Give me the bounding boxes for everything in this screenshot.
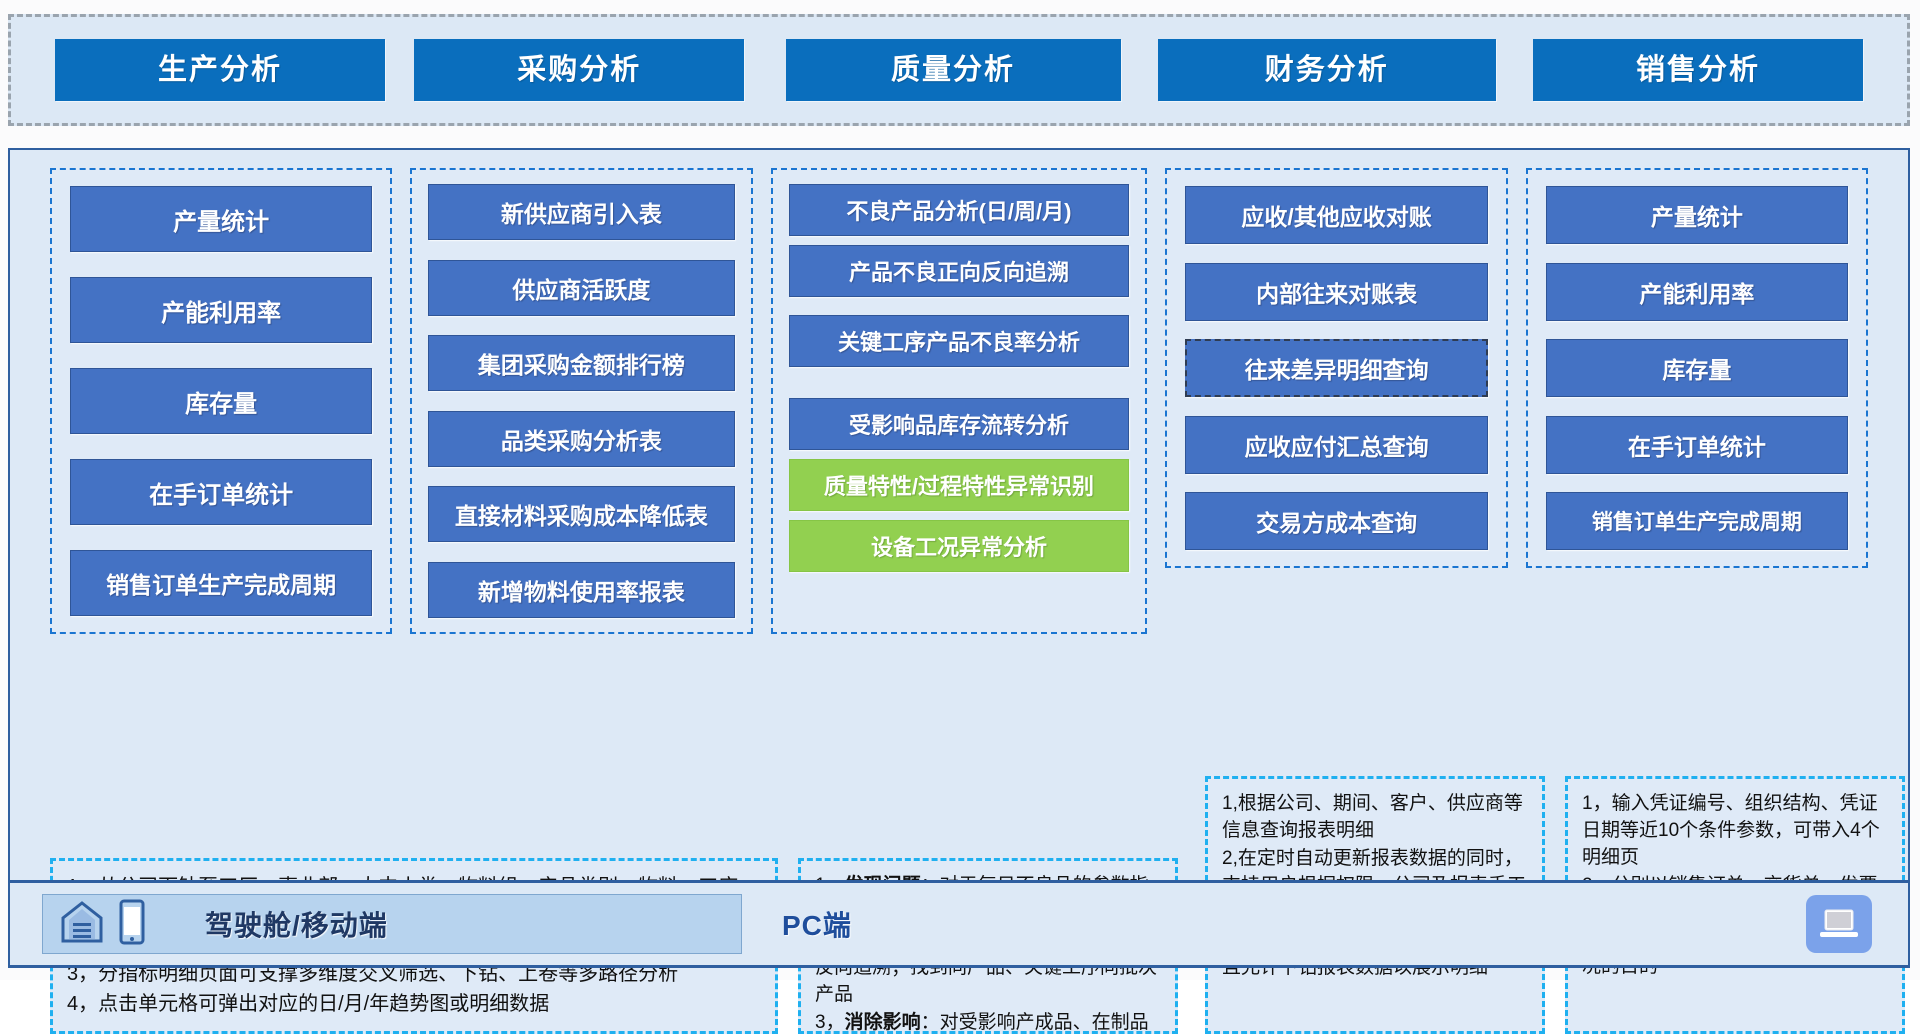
tab-production[interactable]: 生产分析 bbox=[55, 39, 385, 101]
description-line: 3，消除影响：对受影响产成品、在制品的流转库存进行排查 bbox=[815, 1010, 1161, 1034]
platform-bottom-bar: 驾驶舱/移动端 PC端 bbox=[8, 880, 1910, 968]
tab-finance[interactable]: 财务分析 bbox=[1158, 39, 1496, 101]
mobile-phone-icon bbox=[119, 899, 145, 950]
item-quality-key-process-defect-rate[interactable]: 关键工序产品不良率分析 bbox=[789, 315, 1130, 367]
description-line: 1,根据公司、期间、客户、供应商等信息查询报表明细 bbox=[1222, 791, 1528, 845]
item-procurement-category-analysis[interactable]: 品类采购分析表 bbox=[428, 411, 734, 467]
item-quality-affected-inventory-flow[interactable]: 受影响品库存流转分析 bbox=[789, 398, 1130, 450]
item-procurement-supplier-activity[interactable]: 供应商活跃度 bbox=[428, 260, 734, 316]
procurement-item-group: 新供应商引入表 供应商活跃度 集团采购金额排行榜 品类采购分析表 直接材料采购成… bbox=[410, 168, 752, 634]
item-procurement-new-supplier[interactable]: 新供应商引入表 bbox=[428, 184, 734, 240]
item-sales-inventory[interactable]: 库存量 bbox=[1546, 339, 1848, 397]
item-procurement-direct-material-cost[interactable]: 直接材料采购成本降低表 bbox=[428, 486, 734, 542]
tab-sales[interactable]: 销售分析 bbox=[1533, 39, 1863, 101]
quality-item-group: 不良产品分析(日/周/月) 产品不良正向反向追溯 关键工序产品不良率分析 受影响… bbox=[771, 168, 1148, 634]
laptop-icon bbox=[1806, 895, 1872, 953]
cockpit-mobile-label: 驾驶舱/移动端 bbox=[205, 904, 388, 944]
item-sales-open-orders[interactable]: 在手订单统计 bbox=[1546, 416, 1848, 474]
item-finance-internal-reconciliation[interactable]: 内部往来对账表 bbox=[1185, 263, 1487, 321]
item-sales-output-stats[interactable]: 产量统计 bbox=[1546, 186, 1848, 244]
item-production-open-orders[interactable]: 在手订单统计 bbox=[70, 459, 372, 525]
description-line-emphasis: 消除影响 bbox=[845, 1012, 921, 1033]
item-sales-capacity-utilization[interactable]: 产能利用率 bbox=[1546, 263, 1848, 321]
description-line-number: 3， bbox=[815, 1012, 845, 1033]
finance-item-group: 应收/其他应收对账 内部往来对账表 往来差异明细查询 应收应付汇总查询 交易方成… bbox=[1165, 168, 1507, 568]
main-content-panel: 产量统计 产能利用率 库存量 在手订单统计 销售订单生产完成周期 新供应商引入表… bbox=[8, 148, 1910, 968]
item-finance-receivable-reconciliation[interactable]: 应收/其他应收对账 bbox=[1185, 186, 1487, 244]
item-quality-defect-traceability[interactable]: 产品不良正向反向追溯 bbox=[789, 245, 1130, 297]
item-sales-order-cycle[interactable]: 销售订单生产完成周期 bbox=[1546, 492, 1848, 550]
group-spacer bbox=[789, 376, 1130, 398]
item-procurement-group-amount-rank[interactable]: 集团采购金额排行榜 bbox=[428, 335, 734, 391]
item-finance-ar-ap-summary-query[interactable]: 应收应付汇总查询 bbox=[1185, 416, 1487, 474]
item-production-order-cycle[interactable]: 销售订单生产完成周期 bbox=[70, 550, 372, 616]
item-quality-equipment-condition-anomaly[interactable]: 设备工况异常分析 bbox=[789, 520, 1130, 572]
pc-section[interactable]: PC端 bbox=[742, 894, 1908, 954]
column-production: 产量统计 产能利用率 库存量 在手订单统计 销售订单生产完成周期 bbox=[50, 168, 392, 874]
production-item-group: 产量统计 产能利用率 库存量 在手订单统计 销售订单生产完成周期 bbox=[50, 168, 392, 634]
item-finance-difference-detail-query[interactable]: 往来差异明细查询 bbox=[1185, 339, 1487, 397]
column-quality: 不良产品分析(日/周/月) 产品不良正向反向追溯 关键工序产品不良率分析 受影响… bbox=[771, 168, 1148, 874]
item-procurement-new-material-usage[interactable]: 新增物料使用率报表 bbox=[428, 562, 734, 618]
column-procurement: 新供应商引入表 供应商活跃度 集团采购金额排行榜 品类采购分析表 直接材料采购成… bbox=[410, 168, 752, 874]
tab-procurement[interactable]: 采购分析 bbox=[414, 39, 744, 101]
group-spacer bbox=[789, 306, 1130, 315]
sales-item-group: 产量统计 产能利用率 库存量 在手订单统计 销售订单生产完成周期 bbox=[1526, 168, 1868, 568]
description-line: 4，点击单元格可弹出对应的日/月/年趋势图或明细数据 bbox=[67, 990, 761, 1018]
description-line: 1，输入凭证编号、组织结构、凭证日期等近10个条件参数，可带入4个明细页 bbox=[1582, 791, 1888, 872]
cockpit-icons bbox=[59, 899, 145, 950]
tab-quality[interactable]: 质量分析 bbox=[786, 39, 1121, 101]
item-production-output-stats[interactable]: 产量统计 bbox=[70, 186, 372, 252]
item-production-inventory[interactable]: 库存量 bbox=[70, 368, 372, 434]
analysis-module-tab-strip: 生产分析 采购分析 质量分析 财务分析 销售分析 bbox=[8, 14, 1910, 126]
analysis-columns: 产量统计 产能利用率 库存量 在手订单统计 销售订单生产完成周期 新供应商引入表… bbox=[10, 150, 1908, 874]
item-production-capacity-utilization[interactable]: 产能利用率 bbox=[70, 277, 372, 343]
column-finance: 应收/其他应收对账 内部往来对账表 往来差异明细查询 应收应付汇总查询 交易方成… bbox=[1165, 168, 1507, 874]
item-quality-defect-analysis[interactable]: 不良产品分析(日/周/月) bbox=[789, 184, 1130, 236]
factory-icon bbox=[59, 899, 105, 950]
item-finance-counterparty-cost-query[interactable]: 交易方成本查询 bbox=[1185, 492, 1487, 550]
item-quality-characteristic-anomaly[interactable]: 质量特性/过程特性异常识别 bbox=[789, 459, 1130, 511]
cockpit-mobile-section[interactable]: 驾驶舱/移动端 bbox=[42, 894, 742, 954]
column-sales: 产量统计 产能利用率 库存量 在手订单统计 销售订单生产完成周期 bbox=[1526, 168, 1868, 874]
pc-label: PC端 bbox=[782, 904, 852, 944]
